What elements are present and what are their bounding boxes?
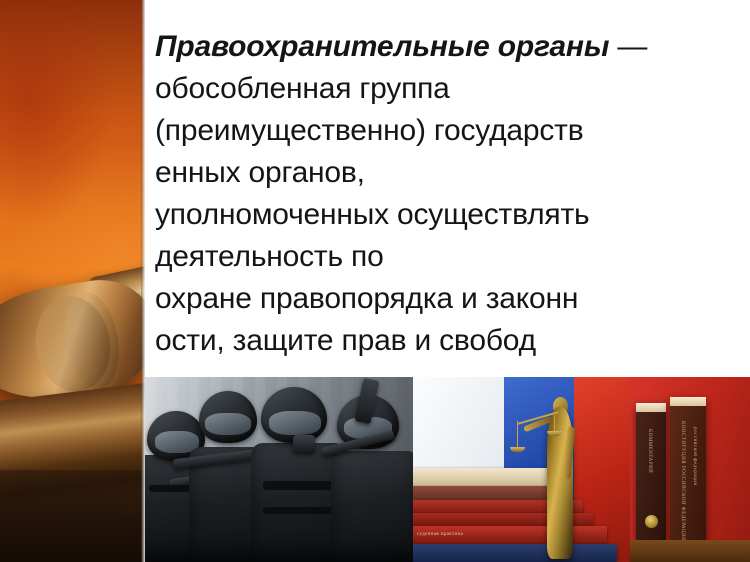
officer-vest-strap bbox=[263, 481, 337, 490]
gavel-shadow-bottom bbox=[0, 470, 145, 562]
book-spine-text: судебная практика bbox=[417, 532, 463, 537]
themis-statue bbox=[531, 381, 589, 562]
definition-rest: — обособленная группа (преимущественно) … bbox=[155, 30, 647, 357]
officer-visor bbox=[269, 411, 321, 435]
officer-vest-strap bbox=[263, 507, 337, 514]
law-book-right: КОНСТИТУЦИЯ РОССИЙСКОЙ ФЕДЕРАЦИИ российс… bbox=[670, 397, 706, 547]
presentation-slide: Правоохранительные органы — обособленная… bbox=[0, 0, 750, 562]
law-books-photo: КОММЕНТАРИЙ КОНСТИТУЦИЯ РОССИЙСКОЙ ФЕДЕР… bbox=[630, 377, 750, 562]
russian-emblem bbox=[645, 515, 658, 528]
themis-statue-photo: судебная практика bbox=[413, 377, 630, 562]
term-label: Правоохранительные органы bbox=[155, 30, 609, 63]
officer-visor bbox=[205, 413, 251, 435]
scale-wire-left bbox=[517, 421, 518, 447]
definition-text-panel: Правоохранительные органы — обособленная… bbox=[145, 0, 750, 380]
law-enforcement-collage: судебная практика КОММЕНТАРИЙ bbox=[145, 377, 750, 562]
book-spine-text: КОНСТИТУЦИЯ РОССИЙСКОЙ ФЕДЕРАЦИИ bbox=[680, 421, 685, 541]
scale-wire-right bbox=[554, 415, 555, 431]
officer-rifle bbox=[293, 435, 315, 453]
book-pages bbox=[670, 397, 706, 406]
book-spine-text: КОММЕНТАРИЙ bbox=[647, 429, 652, 473]
swat-officers-photo bbox=[145, 377, 413, 562]
book-spine-text: российской федерации bbox=[692, 427, 697, 486]
desk-surface bbox=[630, 540, 750, 562]
definition-paragraph: Правоохранительные органы — обособленная… bbox=[155, 26, 750, 362]
book-pages bbox=[636, 403, 666, 412]
book-stack: судебная практика bbox=[413, 466, 630, 562]
judges-gavel-photo bbox=[0, 0, 145, 562]
law-book-left: КОММЕНТАРИЙ bbox=[636, 403, 666, 543]
officer-torso bbox=[331, 451, 413, 562]
